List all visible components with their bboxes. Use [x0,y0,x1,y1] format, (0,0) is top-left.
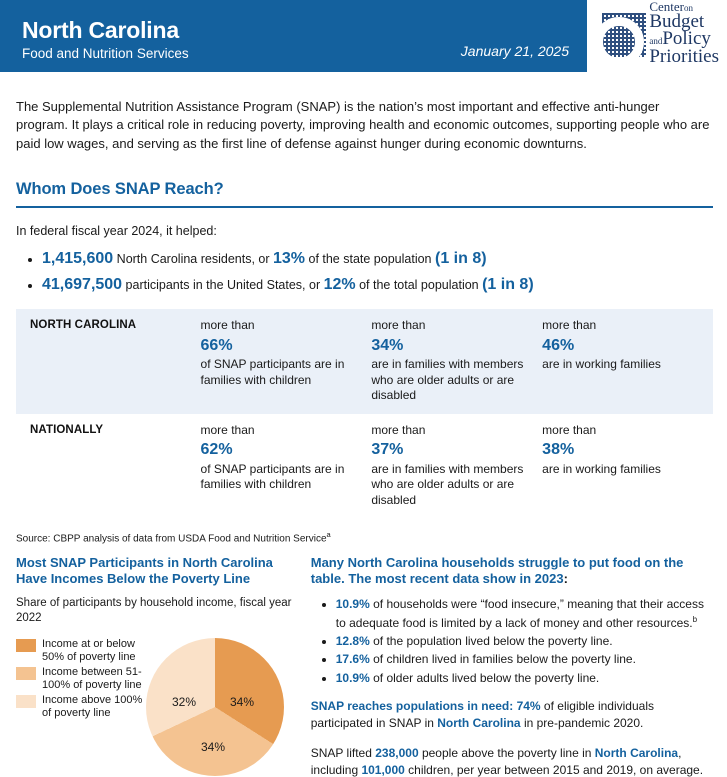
table-cell: more than 46% are in working families [542,318,713,404]
legend-label: Income at or below 50% of poverty line [42,638,144,665]
list-item: 10.9% of households were “food insecure,… [336,596,713,632]
list-item: 12.8% of the population lived below the … [336,633,713,650]
more-than-label: more than [201,318,362,334]
more-than-label: more than [542,423,703,439]
cell-percent: 38% [542,438,703,461]
section-heading: Whom Does SNAP Reach? [16,180,713,199]
table-row: NATIONALLY more than 62% of SNAP partici… [16,414,713,519]
page-header: North Carolina Food and Nutrition Servic… [0,0,727,72]
state-name: North Carolina [595,746,678,760]
stat-percent: 10.9% [336,671,370,685]
reach-percent: 12% [324,276,356,293]
list-item: 17.6% of children lived in families belo… [336,651,713,668]
right-column-heading: Many North Carolina households struggle … [311,555,713,588]
cell-percent: 37% [371,438,532,461]
table-cell: more than 62% of SNAP participants are i… [201,423,372,509]
reach-number: 1,415,600 [42,250,113,267]
reach-tail: of the state population [305,252,435,266]
legend-label: Income above 100% of poverty line [42,694,144,721]
cell-percent: 34% [371,334,532,357]
cell-description: are in families with members who are old… [371,462,532,509]
legend-item: Income between 51-100% of poverty line [16,666,144,693]
logo-line-3-small: and [649,36,662,46]
text-column: Many North Carolina households struggle … [311,555,713,777]
legend-swatch-icon [16,695,36,708]
organization-logo: Centeron Budget andPolicy Priorities [587,0,727,72]
pie-value-label: 34% [201,740,225,754]
reach-ratio: (1 in 8) [435,250,487,267]
table-cell: more than 37% are in families with membe… [371,423,542,509]
table-row: NORTH CAROLINA more than 66% of SNAP par… [16,309,713,414]
cbpp-arc-icon [602,13,646,57]
stat-text: of older adults lived below the poverty … [370,671,599,685]
section-lead: In federal fiscal year 2024, it helped: [16,224,713,238]
cell-percent: 46% [542,334,703,357]
cell-description: are in working families [542,357,703,373]
more-than-label: more than [542,318,703,334]
section-divider [16,206,713,208]
stat-text: of children lived in families below the … [370,652,636,666]
table-cell: more than 66% of SNAP participants are i… [201,318,372,404]
stat-percent: 12.8% [336,634,370,648]
list-item: 1,415,600 North Carolina residents, or 1… [42,246,713,272]
cell-description: are in families with members who are old… [371,357,532,404]
header-banner: North Carolina Food and Nutrition Servic… [0,0,587,72]
header-date: January 21, 2025 [461,43,569,59]
chart-legend: Income at or below 50% of poverty line I… [16,634,144,777]
reach-percent: 13% [273,250,305,267]
table-cell: more than 34% are in families with membe… [371,318,542,404]
reach-number: 41,697,500 [42,276,122,293]
hardship-bullet-list: 10.9% of households were “food insecure,… [311,596,713,687]
stat-percent: 10.9% [336,597,370,611]
pie-value-label: 32% [172,695,196,709]
heading-text: Many North Carolina households struggle … [311,555,684,586]
fact-sheet-page: North Carolina Food and Nutrition Servic… [0,0,727,777]
more-than-label: more than [201,423,362,439]
chart-subtitle: Share of participants by household incom… [16,596,303,626]
stat-text: of households were “food insecure,” mean… [336,597,704,629]
reach-lead-in: SNAP reaches populations in need: 74% [311,699,541,713]
poverty-lift-paragraph: SNAP lifted 238,000 people above the pov… [311,745,713,777]
reach-mid: participants in the United States, or [122,278,324,292]
pie-slices [146,638,284,776]
statistics-table: NORTH CAROLINA more than 66% of SNAP par… [16,309,713,518]
heading-tail: : [564,571,568,586]
state-name: North Carolina [437,716,520,730]
lift-a: SNAP lifted [311,746,375,760]
snap-reach-paragraph: SNAP reaches populations in need: 74% of… [311,698,713,733]
pie-graphic: 34% 34% 32% [144,634,294,777]
lift-children-number: 101,000 [361,763,404,777]
reach-tail: of the total population [356,278,482,292]
stat-percent: 17.6% [336,652,370,666]
page-title: North Carolina [22,18,571,44]
reach-ratio: (1 in 8) [482,276,534,293]
chart-column: Most SNAP Participants in North Carolina… [16,555,311,777]
reach-mid: North Carolina residents, or [113,252,273,266]
pie-chart: Income at or below 50% of poverty line I… [16,634,303,777]
reach-bullet-list: 1,415,600 North Carolina residents, or 1… [16,246,713,298]
table-cell: more than 38% are in working families [542,423,713,509]
cell-description: are in working families [542,462,703,478]
two-column-section: Most SNAP Participants in North Carolina… [16,555,713,777]
row-label: NATIONALLY [30,423,201,509]
legend-swatch-icon [16,667,36,680]
row-label: NORTH CAROLINA [30,318,201,404]
chart-title: Most SNAP Participants in North Carolina… [16,555,303,588]
list-item: 41,697,500 participants in the United St… [42,272,713,298]
pie-value-label: 34% [230,695,254,709]
cell-description: of SNAP participants are in families wit… [201,462,362,493]
cell-percent: 62% [201,438,362,461]
logo-line-4: Priorities [649,48,719,65]
reach-tail-text: in pre-pandemic 2020. [521,716,644,730]
cell-description: of SNAP participants are in families wit… [201,357,362,388]
cell-percent: 66% [201,334,362,357]
footnote-marker: b [693,615,697,624]
legend-label: Income between 51-100% of poverty line [42,666,144,693]
intro-paragraph: The Supplemental Nutrition Assistance Pr… [16,98,713,153]
legend-swatch-icon [16,639,36,652]
legend-item: Income at or below 50% of poverty line [16,638,144,665]
stat-text: of the population lived below the povert… [370,634,613,648]
more-than-label: more than [371,318,532,334]
legend-item: Income above 100% of poverty line [16,694,144,721]
source-footnote-marker: a [327,530,331,539]
list-item: 10.9% of older adults lived below the po… [336,670,713,687]
source-text: Source: CBPP analysis of data from USDA … [16,534,327,545]
more-than-label: more than [371,423,532,439]
lift-number: 238,000 [375,746,418,760]
lift-b: people above the poverty line in [419,746,595,760]
table-source-note: Source: CBPP analysis of data from USDA … [16,530,713,544]
